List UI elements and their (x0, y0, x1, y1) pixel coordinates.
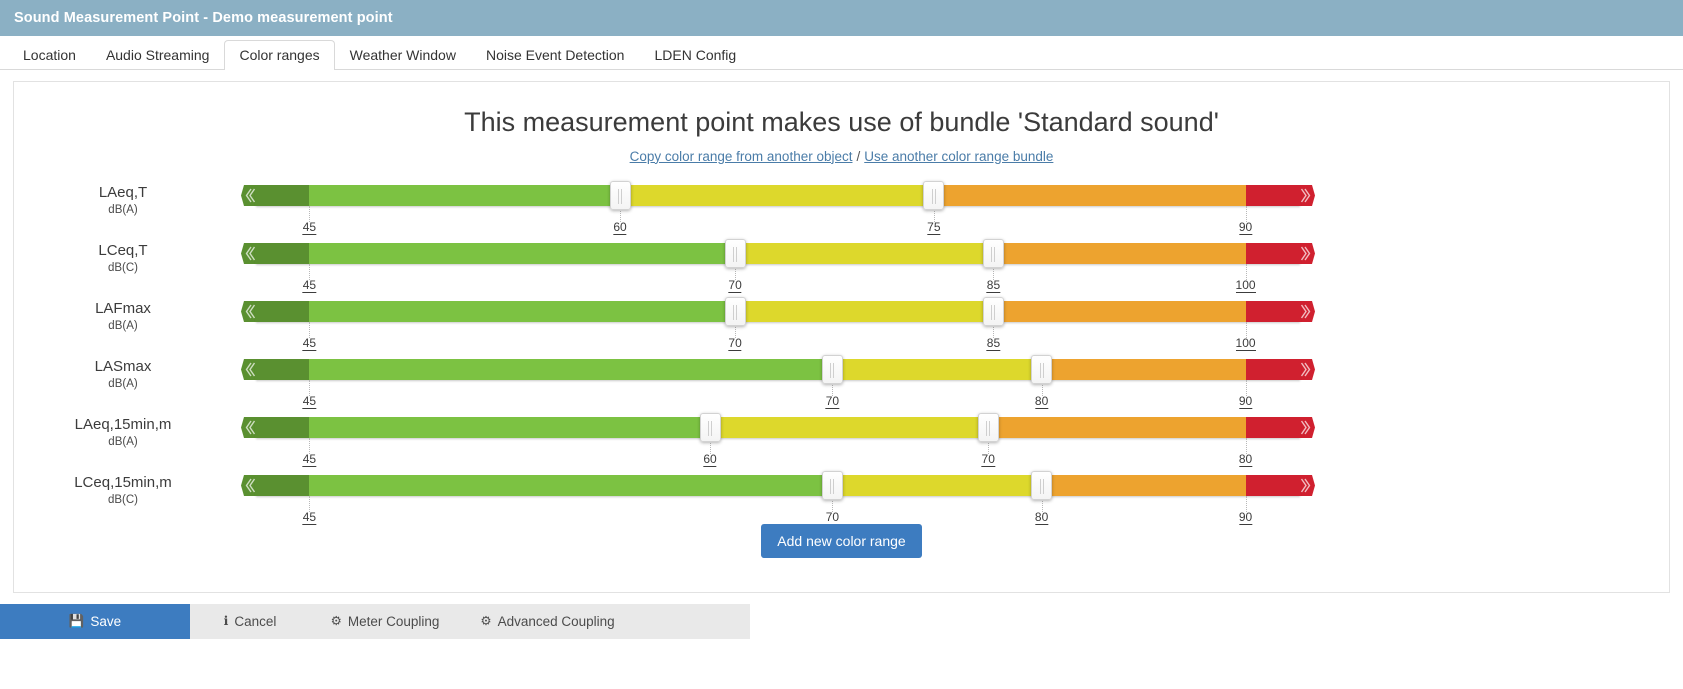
slider-tick-value[interactable]: 75 (927, 221, 940, 235)
slider-track[interactable] (255, 185, 1301, 206)
slider-track[interactable] (255, 301, 1301, 322)
slider-segment (1042, 475, 1246, 496)
tab-color-ranges[interactable]: Color ranges (224, 40, 334, 70)
slider-segment (1246, 185, 1301, 206)
gear-icon: ⚙ (331, 615, 342, 628)
button-label: Save (90, 614, 121, 629)
slider-handle[interactable] (983, 297, 1004, 326)
slider-segment (832, 359, 1041, 380)
slider-handle[interactable] (822, 471, 843, 500)
handle-grip-icon (991, 247, 995, 262)
metric-unit: dB(C) (14, 492, 232, 508)
color-range-slider[interactable]: 457085100 (242, 234, 1669, 292)
metric-unit: dB(A) (14, 318, 232, 334)
slider-track-wrap: 457085100 (255, 243, 1301, 264)
row-label: LASmaxdB(A) (14, 358, 232, 393)
chevron-right-cap-icon (1300, 475, 1315, 496)
gear-icon: ⚙ (480, 615, 491, 628)
slider-tick (309, 438, 310, 454)
chevron-right-cap-icon (1300, 417, 1315, 438)
chevron-left-cap-icon (241, 475, 256, 496)
row-label: LAFmaxdB(A) (14, 300, 232, 335)
chevron-left-cap-icon (241, 185, 256, 206)
slider-tick-value[interactable]: 80 (1035, 395, 1048, 409)
slider-rows: LAeq,TdB(A)45607590LCeq,TdB(C)457085100L… (14, 176, 1669, 524)
slider-tick-value[interactable]: 80 (1035, 511, 1048, 525)
slider-segment (1246, 301, 1301, 322)
slider-segment (1246, 243, 1301, 264)
chevron-right-cap-icon (1300, 301, 1315, 322)
slider-handle[interactable] (923, 181, 944, 210)
slider-tick (1246, 380, 1247, 396)
slider-segment (1246, 475, 1301, 496)
color-range-row: LASmaxdB(A)45708090 (14, 350, 1669, 408)
handle-grip-icon (733, 247, 737, 262)
save-button[interactable]: 💾Save (0, 604, 190, 639)
slider-segment (309, 301, 735, 322)
color-range-slider[interactable]: 45607590 (242, 176, 1669, 234)
row-label: LAeq,TdB(A) (14, 184, 232, 219)
slider-tick-value[interactable]: 60 (703, 453, 716, 467)
handle-grip-icon (986, 421, 990, 436)
color-ranges-panel: This measurement point makes use of bund… (13, 81, 1670, 593)
window-titlebar: Sound Measurement Point - Demo measureme… (0, 0, 1683, 36)
metric-unit: dB(A) (14, 434, 232, 450)
chevron-right-cap-icon (1300, 185, 1315, 206)
slider-tick (1246, 264, 1247, 280)
tab-lden-config[interactable]: LDEN Config (639, 40, 751, 70)
metric-unit: dB(A) (14, 202, 232, 218)
slider-handle[interactable] (1031, 471, 1052, 500)
handle-grip-icon (991, 305, 995, 320)
window-title: Sound Measurement Point - Demo measureme… (14, 10, 393, 26)
slider-tick (309, 206, 310, 222)
metric-name: LAeq,T (14, 184, 232, 203)
slider-tick-value[interactable]: 90 (1239, 395, 1252, 409)
add-color-range-wrap: Add new color range (14, 524, 1669, 558)
slider-segment (832, 475, 1041, 496)
slider-tick (309, 380, 310, 396)
slider-segment (255, 185, 309, 206)
handle-grip-icon (830, 363, 834, 378)
slider-tick (309, 496, 310, 512)
slider-segment (255, 243, 309, 264)
page-title: This measurement point makes use of bund… (14, 82, 1669, 138)
metric-name: LAeq,15min,m (14, 416, 232, 435)
slider-tick-value[interactable]: 85 (987, 279, 1000, 293)
cancel-button[interactable]: ℹCancel (190, 604, 310, 639)
slider-segment (620, 185, 934, 206)
color-range-slider[interactable]: 45708090 (242, 466, 1669, 524)
slider-tick-value[interactable]: 70 (982, 453, 995, 467)
chevron-right-cap-icon (1300, 243, 1315, 264)
tab-weather-window[interactable]: Weather Window (335, 40, 471, 70)
slider-tick-value[interactable]: 90 (1239, 511, 1252, 525)
meter-coupling-button[interactable]: ⚙Meter Coupling (310, 604, 460, 639)
button-label: Advanced Coupling (498, 614, 615, 629)
link-separator: / (852, 149, 864, 164)
slider-segment (988, 417, 1245, 438)
color-range-row: LAeq,15min,mdB(A)45607080 (14, 408, 1669, 466)
slider-segment (255, 359, 309, 380)
tab-strip: LocationAudio StreamingColor rangesWeath… (0, 36, 1683, 70)
advanced-coupling-button[interactable]: ⚙Advanced Coupling (460, 604, 635, 639)
slider-segment (710, 417, 988, 438)
info-icon: ℹ (224, 615, 229, 628)
button-label: Cancel (234, 614, 276, 629)
slider-handle[interactable] (983, 239, 1004, 268)
slider-tick-value[interactable]: 45 (303, 279, 316, 293)
slider-track-wrap: 45708090 (255, 475, 1301, 496)
slider-track[interactable] (255, 417, 1301, 438)
handle-grip-icon (618, 189, 622, 204)
tab-audio-streaming[interactable]: Audio Streaming (91, 40, 225, 70)
tab-noise-event-detection[interactable]: Noise Event Detection (471, 40, 640, 70)
chevron-left-cap-icon (241, 243, 256, 264)
chevron-left-cap-icon (241, 359, 256, 380)
row-label: LCeq,15min,mdB(C) (14, 474, 232, 509)
slider-segment (1042, 359, 1246, 380)
slider-segment (993, 301, 1245, 322)
slider-segment (309, 185, 620, 206)
slider-track-wrap: 457085100 (255, 301, 1301, 322)
slider-handle[interactable] (725, 297, 746, 326)
slider-segment (255, 417, 309, 438)
slider-tick-value[interactable]: 90 (1239, 221, 1252, 235)
add-new-color-range-button[interactable]: Add new color range (761, 524, 921, 558)
handle-grip-icon (932, 189, 936, 204)
slider-handle[interactable] (700, 413, 721, 442)
slider-track[interactable] (255, 359, 1301, 380)
footer-toolbar: 💾SaveℹCancel⚙Meter Coupling⚙Advanced Cou… (0, 604, 750, 639)
slider-track-wrap: 45708090 (255, 359, 1301, 380)
use-color-range-bundle-link[interactable]: Use another color range bundle (864, 149, 1053, 164)
slider-track[interactable] (255, 243, 1301, 264)
slider-segment (309, 359, 832, 380)
slider-tick-value[interactable]: 45 (303, 453, 316, 467)
app-page: Sound Measurement Point - Demo measureme… (0, 0, 1683, 689)
slider-segment (309, 475, 832, 496)
slider-segment (1246, 417, 1301, 438)
slider-handle[interactable] (610, 181, 631, 210)
slider-segment (309, 243, 735, 264)
handle-grip-icon (830, 479, 834, 494)
save-icon: 💾 (69, 615, 85, 628)
color-range-slider[interactable]: 45607080 (242, 408, 1669, 466)
metric-name: LCeq,15min,m (14, 474, 232, 493)
color-range-row: LAeq,TdB(A)45607590 (14, 176, 1669, 234)
slider-tick-value[interactable]: 70 (826, 395, 839, 409)
slider-handle[interactable] (725, 239, 746, 268)
slider-handle[interactable] (822, 355, 843, 384)
handle-grip-icon (1040, 363, 1044, 378)
slider-handle[interactable] (978, 413, 999, 442)
slider-segment (1246, 359, 1301, 380)
tab-location[interactable]: Location (8, 40, 91, 70)
bundle-links: Copy color range from another object/Use… (14, 149, 1669, 164)
color-range-slider[interactable]: 457085100 (242, 292, 1669, 350)
color-range-slider[interactable]: 45708090 (242, 350, 1669, 408)
slider-tick-value[interactable]: 70 (728, 279, 741, 293)
slider-tick (1246, 438, 1247, 454)
slider-tick-value[interactable]: 80 (1239, 453, 1252, 467)
slider-segment (255, 475, 309, 496)
slider-segment (309, 417, 710, 438)
slider-handle[interactable] (1031, 355, 1052, 384)
slider-tick-value[interactable]: 100 (1236, 279, 1256, 293)
slider-tick-value[interactable]: 45 (303, 337, 316, 351)
slider-track-wrap: 45607590 (255, 185, 1301, 206)
chevron-left-cap-icon (241, 301, 256, 322)
row-label: LCeq,TdB(C) (14, 242, 232, 277)
slider-segment (993, 243, 1245, 264)
slider-segment (255, 301, 309, 322)
slider-track[interactable] (255, 475, 1301, 496)
slider-tick-value[interactable]: 45 (303, 511, 316, 525)
metric-name: LAFmax (14, 300, 232, 319)
chevron-right-cap-icon (1300, 359, 1315, 380)
slider-tick (309, 322, 310, 338)
slider-tick-value[interactable]: 60 (613, 221, 626, 235)
handle-grip-icon (708, 421, 712, 436)
copy-color-range-link[interactable]: Copy color range from another object (630, 149, 853, 164)
row-label: LAeq,15min,mdB(A) (14, 416, 232, 451)
metric-unit: dB(A) (14, 376, 232, 392)
slider-tick-value[interactable]: 100 (1236, 337, 1256, 351)
slider-tick (1246, 496, 1247, 512)
slider-tick-value[interactable]: 70 (728, 337, 741, 351)
slider-tick (1246, 206, 1247, 222)
button-label: Meter Coupling (348, 614, 440, 629)
color-range-row: LCeq,TdB(C)457085100 (14, 234, 1669, 292)
metric-unit: dB(C) (14, 260, 232, 276)
handle-grip-icon (1040, 479, 1044, 494)
metric-name: LASmax (14, 358, 232, 377)
slider-tick-value[interactable]: 45 (303, 395, 316, 409)
slider-segment (735, 243, 993, 264)
color-range-row: LAFmaxdB(A)457085100 (14, 292, 1669, 350)
slider-tick (309, 264, 310, 280)
slider-tick (1246, 322, 1247, 338)
slider-tick-value[interactable]: 45 (303, 221, 316, 235)
chevron-left-cap-icon (241, 417, 256, 438)
slider-tick-value[interactable]: 85 (987, 337, 1000, 351)
slider-track-wrap: 45607080 (255, 417, 1301, 438)
slider-tick-value[interactable]: 70 (826, 511, 839, 525)
metric-name: LCeq,T (14, 242, 232, 261)
color-range-row: LCeq,15min,mdB(C)45708090 (14, 466, 1669, 524)
slider-segment (735, 301, 993, 322)
slider-segment (934, 185, 1246, 206)
handle-grip-icon (733, 305, 737, 320)
